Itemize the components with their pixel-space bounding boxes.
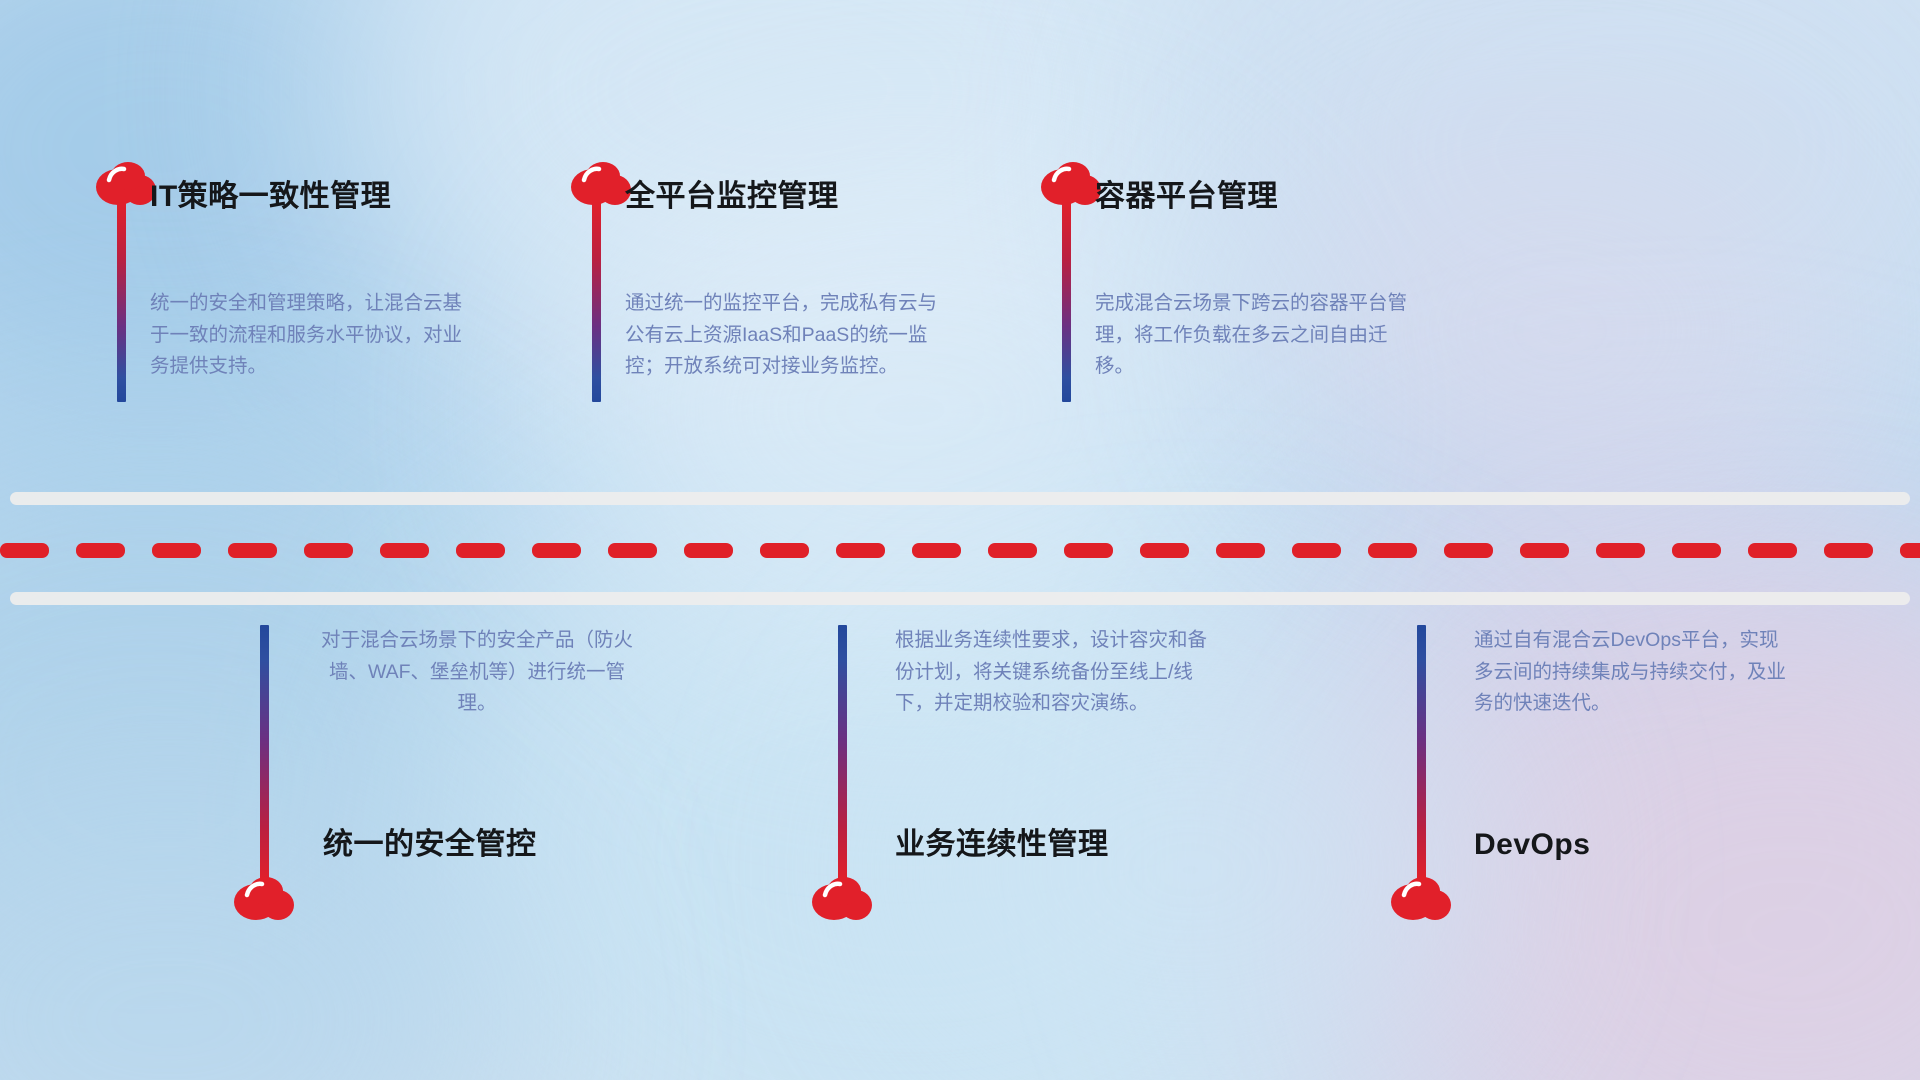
road-dash-segment [760,543,809,558]
road-dash-segment [1368,543,1417,558]
road-dash-segment [1292,543,1341,558]
capability-description: 通过自有混合云DevOps平台，实现多云间的持续集成与持续交付，及业务的快速迭代… [1474,625,1794,720]
road-dash-segment [532,543,581,558]
road-dash-segment [152,543,201,558]
road-dash-segment [988,543,1037,558]
capability-title: 统一的安全管控 [323,830,537,860]
road-dash-segment [836,543,885,558]
road-dash-segment [304,543,353,558]
connector-line [1062,202,1071,402]
connector-line [838,625,847,880]
road-dash-segment [456,543,505,558]
capability-description: 统一的安全和管理策略，让混合云基于一致的流程和服务水平协议，对业务提供支持。 [150,288,480,383]
capability-description: 对于混合云场景下的安全产品（防火墙、WAF、堡垒机等）进行统一管理。 [317,625,637,720]
road-dash-segment [228,543,277,558]
capability-title: IT策略一致性管理 [150,182,391,212]
road-dash-segment [684,543,733,558]
road-dash-segment [608,543,657,558]
cloud-icon [95,160,157,206]
road-edge-top [10,492,1910,505]
road-dash-segment [380,543,429,558]
capability-item-top-2: 全平台监控管理 通过统一的监控平台，完成私有云与公有云上资源IaaS和PaaS的… [570,160,632,206]
connector-line [117,202,126,402]
capability-description: 完成混合云场景下跨云的容器平台管理，将工作负载在多云之间自由迁移。 [1095,288,1425,383]
road-dash-segment [1596,543,1645,558]
cloud-icon [1390,875,1452,921]
road-edge-bottom [10,592,1910,605]
connector-line [1417,625,1426,880]
connector-line [260,625,269,880]
road-dash-segment [1520,543,1569,558]
capability-item-top-3: 容器平台管理 完成混合云场景下跨云的容器平台管理，将工作负载在多云之间自由迁移。 [1040,160,1102,206]
cloud-icon [1040,160,1102,206]
road-dash-segment [1444,543,1493,558]
cloud-icon [811,875,873,921]
connector-line [592,202,601,402]
capability-description: 根据业务连续性要求，设计容灾和备份计划，将关键系统备份至线上/线下，并定期校验和… [895,625,1215,720]
cloud-icon [570,160,632,206]
road-dash-segment [0,543,49,558]
cloud-icon [233,875,295,921]
road-dash-segment [1824,543,1873,558]
road-dash-segment [1900,543,1920,558]
capability-item-top-1: IT策略一致性管理 统一的安全和管理策略，让混合云基于一致的流程和服务水平协议，… [95,160,157,206]
capability-title: 业务连续性管理 [895,830,1109,860]
capability-title: 全平台监控管理 [625,182,839,212]
road-dash-segment [1748,543,1797,558]
capability-title: 容器平台管理 [1095,182,1278,212]
road-dashed-centerline [0,543,1920,558]
road-dash-segment [1064,543,1113,558]
capability-title: DevOps [1474,830,1590,860]
road-dash-segment [1672,543,1721,558]
road-dash-segment [76,543,125,558]
capability-description: 通过统一的监控平台，完成私有云与公有云上资源IaaS和PaaS的统一监控；开放系… [625,288,955,383]
infographic-canvas: IT策略一致性管理 统一的安全和管理策略，让混合云基于一致的流程和服务水平协议，… [0,0,1920,1080]
road-dash-segment [1216,543,1265,558]
road-dash-segment [1140,543,1189,558]
road-dash-segment [912,543,961,558]
